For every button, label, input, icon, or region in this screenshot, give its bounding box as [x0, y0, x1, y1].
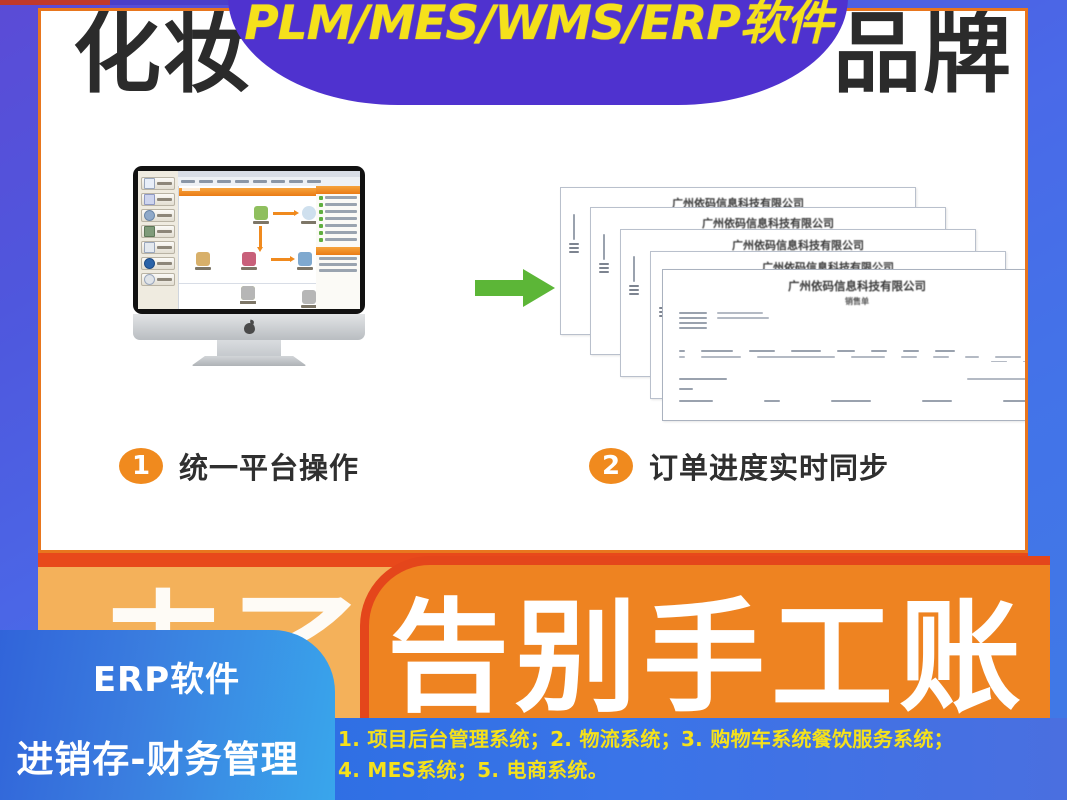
doc-type-label: 销售单: [663, 296, 1025, 307]
bullet-icon: [319, 238, 323, 242]
banner-title: PLM/MES/WMS/ERP软件: [244, 0, 832, 105]
desktop-monitor: [133, 166, 365, 356]
doc-signature-row: [679, 400, 1025, 402]
sales-order-icon: [298, 252, 312, 266]
sidebar-item-purchase[interactable]: [141, 193, 175, 206]
menu-item[interactable]: [307, 180, 321, 183]
menu-item[interactable]: [271, 180, 285, 183]
promo-line-2: 进销存-财务管理: [16, 729, 298, 783]
workflow-bottom-row: [179, 283, 316, 306]
side-panel-row-label: [325, 231, 357, 234]
lower-headline: 告别手工账: [387, 597, 1027, 719]
apple-logo-icon: [244, 321, 255, 334]
side-panel-row-label: [325, 238, 357, 241]
side-panel-row[interactable]: [316, 201, 360, 208]
doc-total-row: [679, 378, 1025, 380]
flow-node-purchase-order[interactable]: [253, 206, 269, 224]
side-panel-row-label: [325, 203, 357, 206]
menu-item[interactable]: [289, 180, 303, 183]
sidebar-item-label: [157, 182, 172, 185]
sidebar-item-sales[interactable]: [141, 209, 175, 222]
monitor-screen: [138, 171, 360, 309]
bullet-icon: [319, 210, 323, 214]
flow-node-label: [253, 221, 269, 224]
sidebar-item-order[interactable]: [141, 177, 175, 190]
flow-node-sales-order[interactable]: [297, 252, 313, 270]
bottom-list-line-2: 4. MES系统；5. 电商系统。: [338, 755, 1057, 786]
menu-item[interactable]: [181, 180, 195, 183]
flow-node-supplier[interactable]: [241, 252, 257, 270]
caption-badge-2: 2: [589, 448, 633, 484]
bullet-icon: [319, 203, 323, 207]
side-panel-header: [316, 186, 360, 194]
side-panel-row[interactable]: [316, 208, 360, 215]
sidebar-item-report[interactable]: [141, 257, 175, 270]
menu-item[interactable]: [199, 180, 213, 183]
promo-line-1: ERP软件: [93, 652, 240, 701]
sales-module-icon: [144, 210, 155, 221]
top-decor-strip-red: [0, 0, 110, 5]
menu-item[interactable]: [217, 180, 231, 183]
side-panel-link[interactable]: [316, 267, 360, 273]
query-4-icon: [241, 286, 255, 300]
doc-meta-block: [679, 312, 829, 329]
sidebar-item-label: [157, 198, 172, 201]
doc-table-row: [679, 361, 1025, 363]
poster-root: 化妆 品牌: [0, 0, 1067, 800]
payment-icon: [302, 206, 316, 220]
side-panel-row-label: [325, 224, 357, 227]
side-panel-header-2: [316, 247, 360, 255]
doc-table-row: [679, 356, 1025, 358]
sidebar-item-finance[interactable]: [141, 241, 175, 254]
sidebar-item-label: [157, 278, 172, 281]
top-banner: PLM/MES/WMS/ERP软件: [228, 0, 848, 105]
doc-note-row: [679, 388, 693, 390]
headline-right-text: 品牌: [833, 11, 1013, 109]
caption-text-1: 统一平台操作: [179, 445, 359, 487]
sidebar-item-inventory[interactable]: [141, 225, 175, 238]
goods-in-icon: [196, 252, 210, 266]
caption-2: 2 订单进度实时同步: [589, 445, 889, 487]
monitor-foot: [191, 356, 307, 366]
sidebar-item-settings[interactable]: [141, 273, 175, 286]
app-side-panel: [316, 186, 360, 309]
bullet-icon: [319, 217, 323, 221]
menu-item[interactable]: [253, 180, 267, 183]
flow-node-label: [195, 267, 211, 270]
caption-text-2: 订单进度实时同步: [649, 445, 889, 487]
report-module-icon: [144, 258, 155, 269]
side-panel-row[interactable]: [316, 236, 360, 243]
side-panel-row-label: [325, 196, 357, 199]
headline-left-text: 化妆: [73, 11, 253, 109]
flow-node-label: [301, 221, 317, 224]
purchase-module-icon: [144, 194, 155, 205]
settings-module-icon: [144, 274, 155, 285]
flow-node-goods-in[interactable]: [195, 252, 211, 270]
side-panel-row-label: [325, 210, 357, 213]
sales-order-doc-front: 广州依码信息科技有限公司 销售单: [662, 269, 1025, 421]
finance-module-icon: [144, 242, 155, 253]
app-sidebar: [138, 171, 178, 309]
side-panel-row-label: [325, 217, 357, 220]
flow-arrow-right: [271, 258, 291, 261]
flow-arrow-down: [259, 226, 262, 248]
side-panel-link-label: [319, 257, 357, 260]
doc-company-name: 广州依码信息科技有限公司: [663, 278, 1025, 294]
doc-side-marks: [567, 214, 581, 255]
erp-application-window: [138, 171, 360, 309]
promo-card: ERP软件 进销存-财务管理: [0, 630, 335, 800]
purchase-order-icon: [254, 206, 268, 220]
side-panel-row[interactable]: [316, 194, 360, 201]
side-panel-row[interactable]: [316, 229, 360, 236]
order-module-icon: [144, 178, 155, 189]
sales-order-stack: 广州依码信息科技有限公司 广州依码信息科技有限公司 广州依码信息科技有限公司: [546, 183, 1025, 433]
bullet-icon: [319, 196, 323, 200]
sidebar-item-label: [157, 230, 172, 233]
bullet-icon: [319, 231, 323, 235]
side-panel-link-label: [319, 263, 357, 266]
app-workspace: [178, 186, 316, 309]
sidebar-item-label: [157, 214, 172, 217]
flow-node-label: [240, 301, 256, 304]
caption-1: 1 统一平台操作: [119, 445, 359, 487]
bottom-list-bar: 1. 项目后台管理系统；2. 物流系统；3. 购物车系统餐饮服务系统； 4. M…: [330, 718, 1067, 800]
caption-badge-1: 1: [119, 448, 163, 484]
flow-node-label: [241, 267, 257, 270]
doc-side-marks: [627, 256, 641, 297]
flow-node-query-4[interactable]: [240, 286, 256, 304]
monitor-chin: [133, 314, 365, 340]
sidebar-item-label: [157, 262, 172, 265]
flow-arrow-right: [273, 212, 295, 215]
flow-node-payment[interactable]: [301, 206, 317, 224]
side-panel-link-label: [319, 269, 357, 272]
doc-table-header: [679, 350, 1025, 352]
flow-node-label: [297, 267, 313, 270]
doc-line-items-table: [679, 350, 1025, 362]
monitor-neck: [217, 340, 281, 358]
menu-item[interactable]: [235, 180, 249, 183]
app-menubar[interactable]: [178, 177, 360, 186]
workflow-canvas: [179, 194, 316, 309]
bottom-list-line-1: 1. 项目后台管理系统；2. 物流系统；3. 购物车系统餐饮服务系统；: [338, 724, 1057, 755]
inventory-module-icon: [144, 226, 155, 237]
bullet-icon: [319, 224, 323, 228]
supplier-icon: [242, 252, 256, 266]
side-panel-row[interactable]: [316, 222, 360, 229]
side-panel-row[interactable]: [316, 215, 360, 222]
green-right-arrow: [473, 266, 557, 310]
doc-side-marks: [597, 234, 611, 275]
sidebar-item-label: [157, 246, 172, 249]
